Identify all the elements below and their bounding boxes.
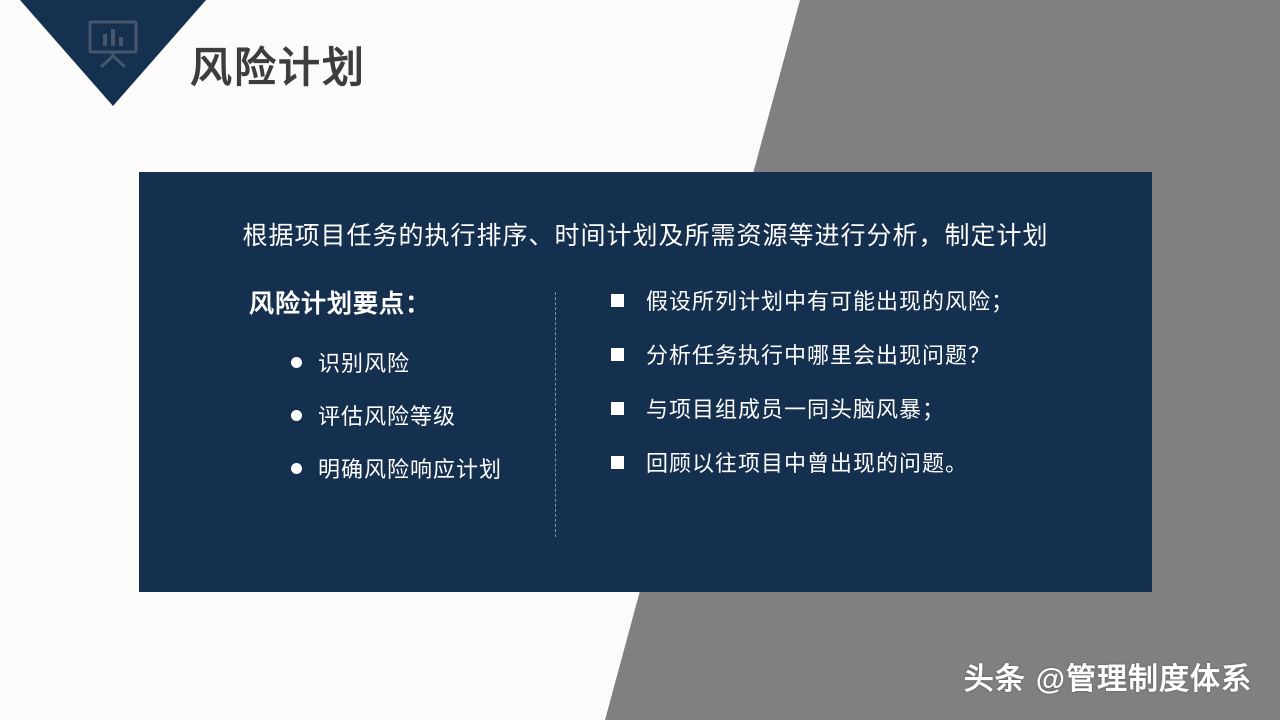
bullet-dot-icon [291, 463, 302, 474]
left-bullet-list: 识别风险 评估风险等级 明确风险响应计划 [249, 346, 555, 484]
watermark-handle: @管理制度体系 [1036, 654, 1252, 698]
presentation-chart-icon [84, 18, 142, 70]
bullet-square-icon [611, 456, 624, 469]
list-item: 假设所列计划中有可能出现的风险； [611, 284, 1152, 316]
left-column: 风险计划要点： 识别风险 评估风险等级 明确风险响应计划 [139, 284, 555, 592]
content-card: 根据项目任务的执行排序、时间计划及所需资源等进行分析，制定计划 风险计划要点： … [139, 172, 1152, 592]
card-columns: 风险计划要点： 识别风险 评估风险等级 明确风险响应计划 [139, 284, 1152, 592]
list-item: 明确风险响应计划 [291, 452, 555, 484]
list-item-label: 假设所列计划中有可能出现的风险； [646, 284, 1014, 316]
left-column-heading: 风险计划要点： [249, 284, 555, 320]
list-item-label: 识别风险 [318, 346, 410, 378]
column-divider [555, 292, 556, 537]
list-item: 识别风险 [291, 346, 555, 378]
list-item: 回顾以往项目中曾出现的问题。 [611, 446, 1152, 478]
right-bullet-list: 假设所列计划中有可能出现的风险； 分析任务执行中哪里会出现问题？ 与项目组成员一… [611, 284, 1152, 478]
list-item-label: 回顾以往项目中曾出现的问题。 [646, 446, 968, 478]
list-item-label: 评估风险等级 [318, 399, 456, 431]
bullet-dot-icon [291, 410, 302, 421]
list-item-label: 分析任务执行中哪里会出现问题？ [646, 338, 991, 370]
list-item-label: 与项目组成员一同头脑风暴； [646, 392, 945, 424]
list-item-label: 明确风险响应计划 [318, 452, 502, 484]
card-headline: 根据项目任务的执行排序、时间计划及所需资源等进行分析，制定计划 [139, 216, 1152, 252]
slide-canvas: 风险计划 根据项目任务的执行排序、时间计划及所需资源等进行分析，制定计划 风险计… [0, 0, 1280, 720]
list-item: 分析任务执行中哪里会出现问题？ [611, 338, 1152, 370]
right-column: 假设所列计划中有可能出现的风险； 分析任务执行中哪里会出现问题？ 与项目组成员一… [555, 284, 1152, 592]
bullet-square-icon [611, 402, 624, 415]
bullet-square-icon [611, 348, 624, 361]
page-title: 风险计划 [190, 34, 366, 95]
list-item: 与项目组成员一同头脑风暴； [611, 392, 1152, 424]
watermark: 头条 @管理制度体系 [964, 654, 1252, 698]
watermark-brand: 头条 [964, 654, 1026, 698]
list-item: 评估风险等级 [291, 399, 555, 431]
bullet-dot-icon [291, 357, 302, 368]
bullet-square-icon [611, 294, 624, 307]
